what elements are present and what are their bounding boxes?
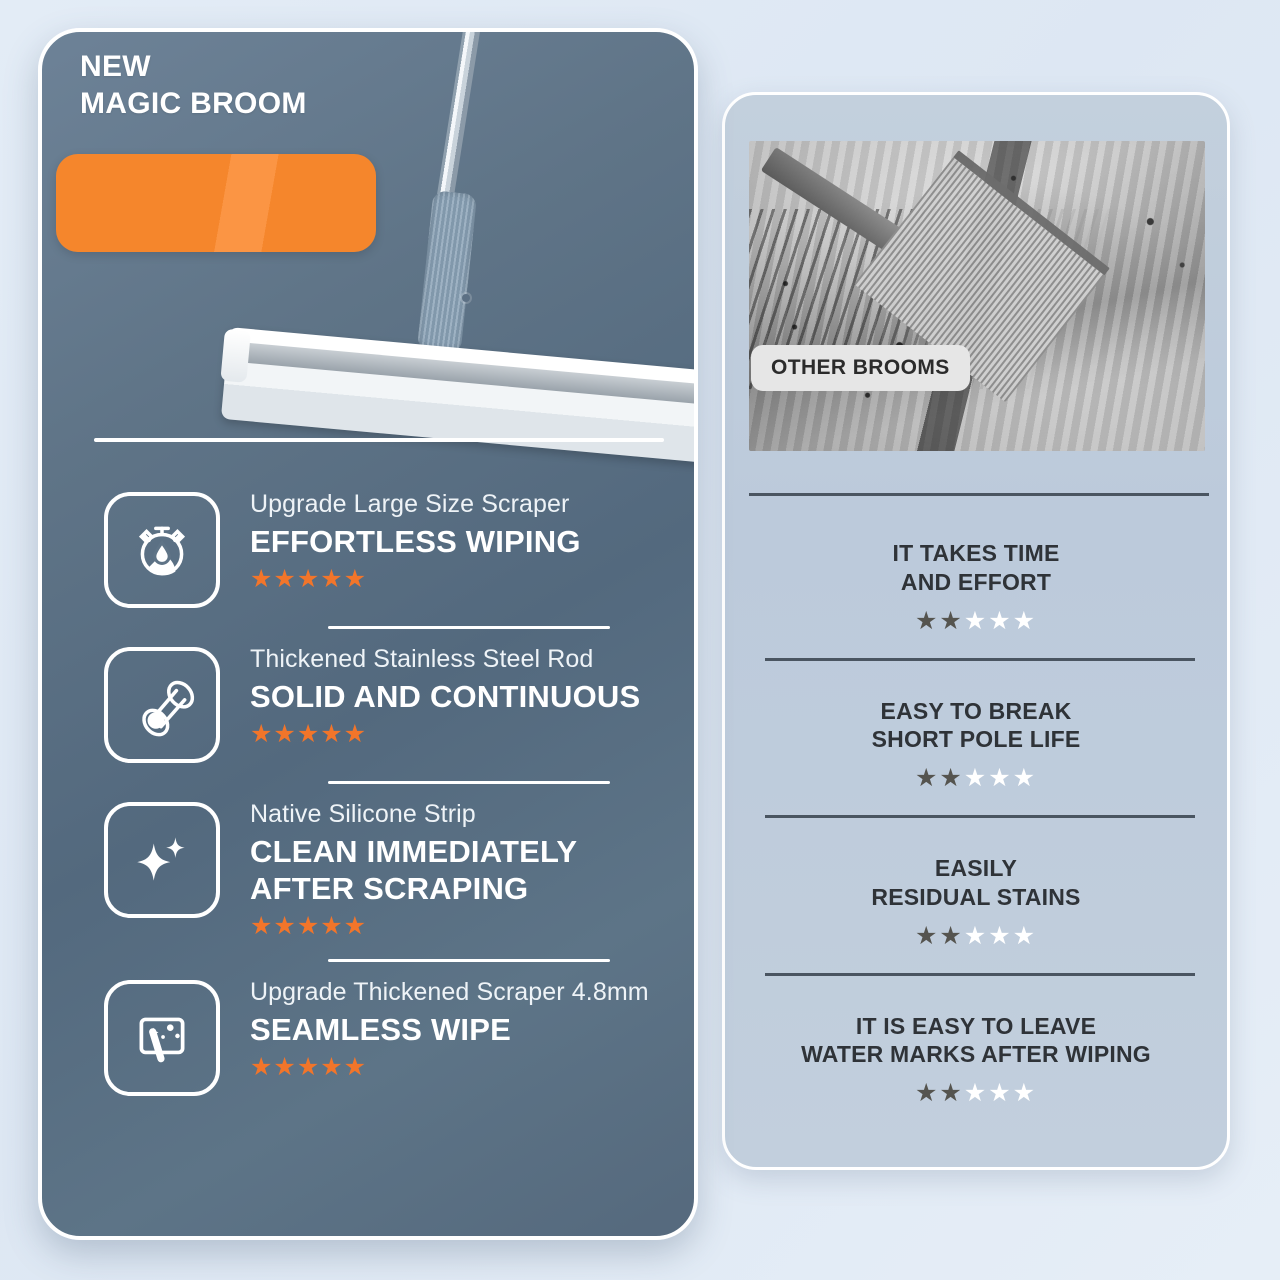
rating-stars: ★★★★★ xyxy=(765,606,1187,636)
feature-stars: ★★★★★ xyxy=(250,564,581,594)
comparison-title-line2: WATER MARKS AFTER WIPING xyxy=(765,1040,1187,1069)
rating-stars: ★★★★★ xyxy=(765,763,1187,793)
feature-row: Upgrade Thickened Scraper 4.8mm SEAMLESS… xyxy=(42,962,694,1096)
product-hero: NEW MAGIC BROOM xyxy=(42,32,694,452)
magic-broom-panel: NEW MAGIC BROOM xyxy=(38,28,698,1240)
comparison-item: IT IS EASY TO LEAVE WATER MARKS AFTER WI… xyxy=(725,986,1227,1119)
feature-title: SOLID AND CONTINUOUS xyxy=(250,678,640,715)
comparison-rule xyxy=(765,815,1195,818)
feature-text: Upgrade Large Size Scraper EFFORTLESS WI… xyxy=(250,488,581,594)
feature-row: Thickened Stainless Steel Rod SOLID AND … xyxy=(42,629,694,763)
comparison-rule xyxy=(765,973,1195,976)
feature-subtitle: Upgrade Thickened Scraper 4.8mm xyxy=(250,978,649,1007)
badge-text: NEW MAGIC BROOM xyxy=(80,49,307,122)
comparison-title-line1: IT TAKES TIME xyxy=(765,539,1187,568)
feature-title-line2: AFTER SCRAPING xyxy=(250,870,577,907)
product-pole xyxy=(434,28,481,215)
feature-title: SEAMLESS WIPE xyxy=(250,1011,649,1048)
other-brooms-photo xyxy=(749,141,1205,451)
feature-title: CLEAN IMMEDIATELY AFTER SCRAPING xyxy=(250,833,577,907)
feature-list: Upgrade Large Size Scraper EFFORTLESS WI… xyxy=(42,474,694,1096)
product-grip xyxy=(417,190,477,354)
rating-stars: ★★★★★ xyxy=(765,1078,1187,1108)
badge-line-2: MAGIC BROOM xyxy=(80,86,307,123)
feature-title: EFFORTLESS WIPING xyxy=(250,523,581,560)
other-brooms-panel: OTHER BROOMS IT TAKES TIME AND EFFORT ★★… xyxy=(722,92,1230,1170)
infographic-stage: OTHER BROOMS IT TAKES TIME AND EFFORT ★★… xyxy=(0,0,1280,1280)
steel-rod-icon xyxy=(104,647,220,763)
feature-text: Upgrade Thickened Scraper 4.8mm SEAMLESS… xyxy=(250,976,649,1082)
new-product-badge xyxy=(56,154,376,252)
sparkle-icon xyxy=(104,802,220,918)
comparison-item: IT TAKES TIME AND EFFORT ★★★★★ xyxy=(725,513,1227,671)
feature-subtitle: Native Silicone Strip xyxy=(250,800,577,829)
comparison-title-line1: EASILY xyxy=(765,854,1187,883)
photo-vignette xyxy=(749,141,1205,451)
hero-divider xyxy=(94,438,664,442)
feature-stars: ★★★★★ xyxy=(250,1052,649,1082)
feature-text: Thickened Stainless Steel Rod SOLID AND … xyxy=(250,643,640,749)
rating-stars: ★★★★★ xyxy=(765,921,1187,951)
comparison-title-line2: RESIDUAL STAINS xyxy=(765,883,1187,912)
right-panel-divider xyxy=(749,493,1209,496)
comparison-list: IT TAKES TIME AND EFFORT ★★★★★ EASY TO B… xyxy=(725,513,1227,1118)
feature-stars: ★★★★★ xyxy=(250,911,577,941)
stopwatch-drop-icon xyxy=(104,492,220,608)
feature-row: Native Silicone Strip CLEAN IMMEDIATELY … xyxy=(42,784,694,941)
comparison-item: EASILY RESIDUAL STAINS ★★★★★ xyxy=(725,828,1227,986)
feature-text: Native Silicone Strip CLEAN IMMEDIATELY … xyxy=(250,798,577,941)
comparison-title-line2: AND EFFORT xyxy=(765,568,1187,597)
comparison-item: EASY TO BREAK SHORT POLE LIFE ★★★★★ xyxy=(725,671,1227,829)
other-brooms-label: OTHER BROOMS xyxy=(751,345,970,391)
badge-line-1: NEW xyxy=(80,49,307,86)
feature-stars: ★★★★★ xyxy=(250,719,640,749)
comparison-title-line1: EASY TO BREAK xyxy=(765,697,1187,726)
product-squeegee-head xyxy=(221,327,698,465)
feature-subtitle: Thickened Stainless Steel Rod xyxy=(250,645,640,674)
comparison-title-line1: IT IS EASY TO LEAVE xyxy=(765,1012,1187,1041)
comparison-rule xyxy=(765,658,1195,661)
feature-title-line1: CLEAN IMMEDIATELY xyxy=(250,833,577,870)
feature-row: Upgrade Large Size Scraper EFFORTLESS WI… xyxy=(42,474,694,608)
feature-subtitle: Upgrade Large Size Scraper xyxy=(250,490,581,519)
squeegee-window-icon xyxy=(104,980,220,1096)
grip-screw-icon xyxy=(462,294,470,302)
comparison-title-line2: SHORT POLE LIFE xyxy=(765,725,1187,754)
squeegee-cap-left xyxy=(220,329,251,383)
